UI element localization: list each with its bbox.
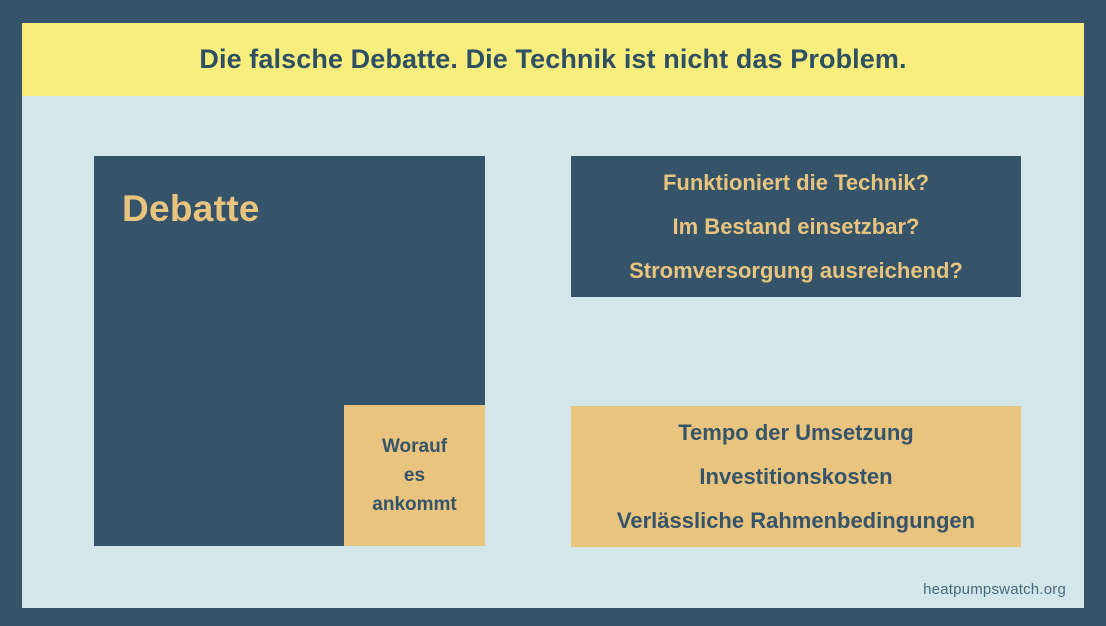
worauf-line-3: ankommt [372,493,456,516]
slide-root: Die falsche Debatte. Die Technik ist nic… [0,0,1106,626]
priority-item-3: Verlässliche Rahmenbedingungen [617,510,975,532]
priority-item-2: Investitionskosten [699,466,892,488]
worauf-es-ankommt-block: Worauf es ankommt [344,405,485,546]
priority-item-1: Tempo der Umsetzung [678,422,914,444]
priorities-block: Tempo der Umsetzung Investitionskosten V… [571,406,1021,547]
slide-canvas: Debatte Worauf es ankommt Funktioniert d… [22,96,1084,608]
source-watermark: heatpumpswatch.org [923,581,1066,598]
slide-title: Die falsche Debatte. Die Technik ist nic… [199,44,906,75]
questions-block: Funktioniert die Technik? Im Bestand ein… [571,156,1021,297]
question-item-1: Funktioniert die Technik? [663,172,929,194]
question-item-2: Im Bestand einsetzbar? [673,216,920,238]
debatte-label: Debatte [122,188,260,230]
worauf-line-2: es [404,464,425,487]
question-item-3: Stromversorgung ausreichend? [629,260,963,282]
worauf-line-1: Worauf [382,435,447,458]
title-band: Die falsche Debatte. Die Technik ist nic… [22,23,1084,96]
